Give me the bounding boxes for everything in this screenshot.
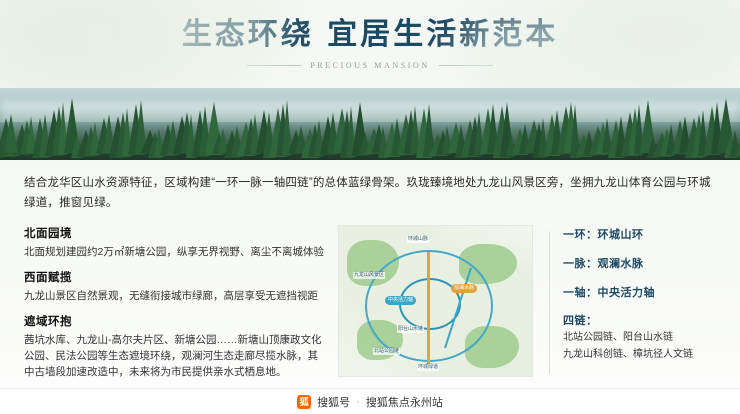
section-title-north: 北面园境 <box>24 225 324 241</box>
left-text-column: 北面园境 北面规划建园约2万㎡新塘公园，纵享无界视野、离尘不离城体验 西面赋揽 … <box>24 225 324 380</box>
map-label-4: 阳台山水链 <box>397 326 424 333</box>
watercolor-blotch <box>460 10 600 100</box>
map-central-axis <box>427 252 430 364</box>
legend-value-chains-line1: 北站公园链、阳台山水链 <box>563 330 716 345</box>
map-label-3: 观澜水脉 <box>451 284 477 293</box>
map-label-0: 环城山脉 <box>407 236 429 243</box>
section-text-west: 九龙山景区自然景观，无缝衔接城市绿廊，高层享受无遮挡视距 <box>24 288 324 304</box>
sohu-logo-icon: 狐 <box>297 395 311 409</box>
document-page: 生态环绕 宜居生活新范本 PRECIOUS MANSION 结合龙华区山水资源特… <box>0 0 740 414</box>
lead-paragraph: 结合龙华区山水资源特征，区域构建“一环一脉一轴四链”的总体蓝绿骨架。玖珑臻境地处… <box>24 173 716 213</box>
footer-bar: 狐 搜狐号 · 搜狐焦点永州站 <box>0 388 740 414</box>
legend-item-water: 一脉：观澜水脉 <box>563 254 716 272</box>
legend-item-axis: 一轴：中央活力轴 <box>563 283 716 301</box>
section-text-north: 北面规划建园约2万㎡新塘公园，纵享无界视野、离尘不离城体验 <box>24 244 324 260</box>
forest-banner-image <box>0 88 740 160</box>
region-map-diagram: 环城山脉 九龙山风景区 中央活力轴 观澜水脉 阳台山水链 北站公园链 环城绿道 <box>338 225 533 377</box>
map-label-5: 北站公园链 <box>373 348 400 355</box>
page-content: 结合龙华区山水资源特征，区域构建“一环一脉一轴四链”的总体蓝绿骨架。玖珑臻境地处… <box>0 160 740 380</box>
legend-key-water: 一脉： <box>563 258 598 270</box>
legend-key-chains: 四链： <box>563 312 716 328</box>
legend-item-ring: 一环：环城山环 <box>563 225 716 243</box>
map-label-2: 中央活力轴 <box>385 296 416 305</box>
map-label-6: 环城绿道 <box>417 364 439 371</box>
legend-value-water: 观澜水脉 <box>598 258 644 270</box>
footer-separator: · <box>356 396 360 408</box>
legend-value-chains-line2: 九龙山科创链、樟坑径人文链 <box>563 347 716 362</box>
footer-account-name: 搜狐焦点永州站 <box>366 394 443 410</box>
map-legend: 一环：环城山环 一脉：观澜水脉 一轴：中央活力轴 四链： 北站公园链、阳台山水链… <box>547 225 716 380</box>
map-label-1: 九龙山风景区 <box>353 272 385 279</box>
section-title-surround: 遮域环抱 <box>24 313 324 329</box>
legend-key-ring: 一环： <box>563 229 598 241</box>
content-columns: 北面园境 北面规划建园约2万㎡新塘公园，纵享无界视野、离尘不离城体验 西面赋揽 … <box>24 225 716 380</box>
legend-value-ring: 环城山环 <box>598 229 644 241</box>
legend-key-axis: 一轴： <box>563 287 598 299</box>
legend-item-chains: 四链： 北站公园链、阳台山水链 九龙山科创链、樟坑径人文链 <box>563 312 716 362</box>
section-text-surround: 茜坑水库、九龙山-高尔夫片区、新塘公园……新塘山顶康政文化公园、民法公园等生态遮… <box>24 332 324 380</box>
section-title-west: 西面赋揽 <box>24 269 324 285</box>
legend-value-axis: 中央活力轴 <box>598 287 656 299</box>
page-header: 生态环绕 宜居生活新范本 PRECIOUS MANSION <box>0 0 740 84</box>
footer-account-label: 搜狐号 <box>317 394 350 410</box>
page-subtitle: PRECIOUS MANSION <box>310 61 430 70</box>
